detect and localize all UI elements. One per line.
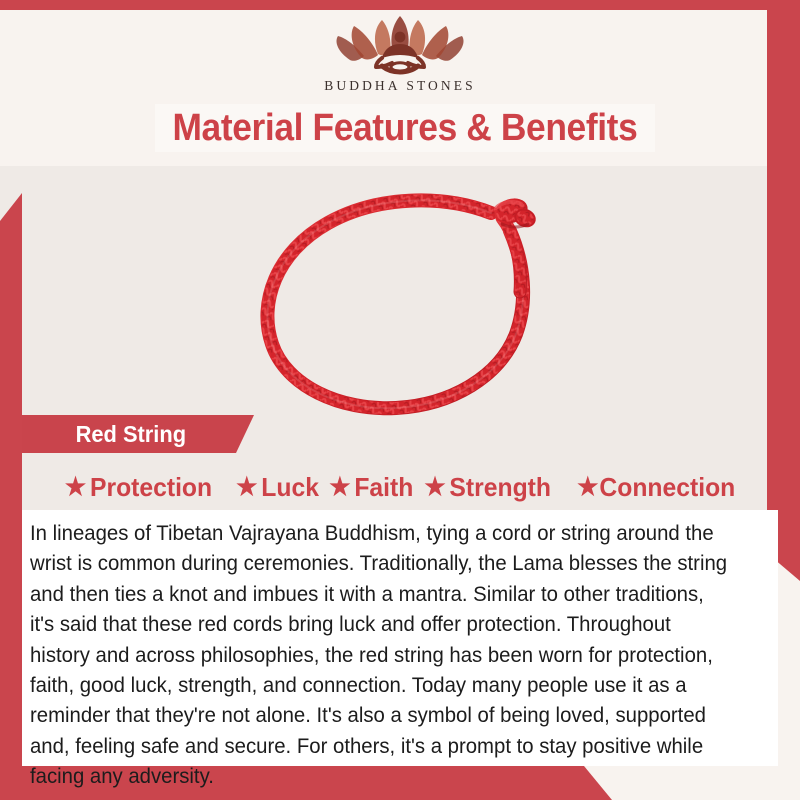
product-name-banner: Red String [22, 415, 254, 453]
benefit-label: Faith [354, 474, 413, 500]
knot [491, 194, 538, 230]
benefit-label: Luck [261, 474, 319, 500]
benefit-item-protection: ★ Protection [65, 474, 212, 500]
product-name-label: Red String [26, 421, 186, 448]
star-icon: ★ [236, 475, 257, 500]
benefit-item-faith: ★ Faith [329, 474, 413, 500]
frame-accent-left [0, 193, 22, 800]
description-text: In lineages of Tibetan Vajrayana Buddhis… [30, 518, 731, 792]
star-icon: ★ [65, 475, 86, 500]
star-icon: ★ [329, 475, 350, 500]
benefits-row: ★ Protection ★ Luck ★ Faith ★ Strength ★… [22, 466, 778, 508]
frame-accent-top [0, 0, 800, 10]
title-band: Material Features & Benefits [155, 104, 655, 152]
infographic-canvas: BUDDHA STONES Material Features & Benefi… [0, 0, 800, 800]
benefit-item-strength: ★ Strength [425, 474, 552, 500]
benefit-item-connection: ★ Connection [577, 474, 735, 500]
benefit-label: Protection [90, 474, 212, 500]
brand-logo: BUDDHA STONES [0, 14, 800, 104]
star-icon: ★ [425, 475, 446, 500]
page-title: Material Features & Benefits [173, 109, 638, 147]
product-photo-red-string-bracelet [180, 168, 620, 418]
benefit-item-luck: ★ Luck [236, 474, 319, 500]
brand-wordmark: BUDDHA STONES [324, 78, 475, 94]
benefit-label: Connection [599, 474, 735, 500]
description-panel: In lineages of Tibetan Vajrayana Buddhis… [22, 510, 778, 766]
lotus-meditation-icon [332, 14, 468, 76]
benefit-label: Strength [450, 474, 552, 500]
star-icon: ★ [577, 475, 598, 500]
